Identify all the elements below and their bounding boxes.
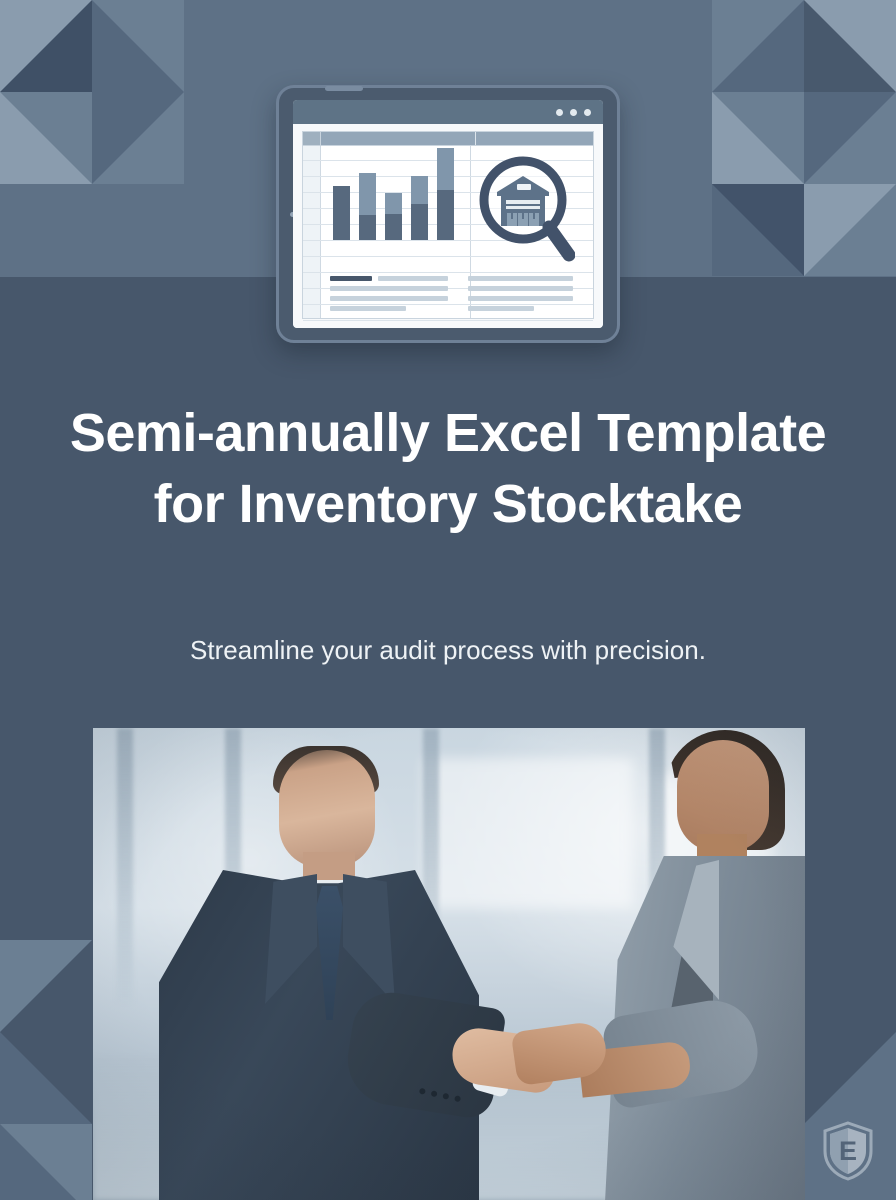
shield-logo-letter: E <box>839 1136 857 1166</box>
window-titlebar <box>293 100 603 124</box>
row-number-column <box>303 146 321 318</box>
page-subtitle: Streamline your audit process with preci… <box>48 633 848 667</box>
spreadsheet-grid <box>302 131 594 319</box>
page-title: Semi-annually Excel Template for Invento… <box>48 398 848 540</box>
chart-bar <box>359 173 376 240</box>
tablet-speaker <box>325 86 363 91</box>
photo-vignette <box>93 728 805 1200</box>
pattern-tile <box>0 1032 92 1124</box>
bar-chart <box>333 144 454 240</box>
pattern-tile <box>92 0 184 92</box>
pattern-tile <box>804 184 896 276</box>
text-rows-right <box>468 276 573 311</box>
tablet-screen <box>293 100 603 328</box>
pattern-tile <box>712 184 804 276</box>
chart-bar <box>437 148 454 240</box>
handshake <box>452 1018 598 1104</box>
header-cell <box>476 132 593 145</box>
poster-canvas: Semi-annually Excel Template for Invento… <box>0 0 896 1200</box>
window-dot-icon <box>556 109 563 116</box>
window-dot-icon <box>584 109 591 116</box>
pattern-tile <box>0 940 92 1032</box>
text-rows-left <box>330 276 448 311</box>
tablet-device <box>276 85 620 343</box>
pattern-tile <box>804 92 896 184</box>
spreadsheet-area <box>293 124 603 328</box>
business-handshake-photo <box>93 728 805 1200</box>
pattern-tile <box>804 1032 896 1124</box>
window-dot-icon <box>570 109 577 116</box>
shield-logo: E <box>820 1120 876 1182</box>
chart-bar <box>385 193 402 240</box>
pattern-tile <box>0 1124 92 1200</box>
pattern-tile <box>712 92 804 184</box>
magnifier-icon <box>479 156 575 268</box>
chart-bar <box>333 186 350 240</box>
pattern-tile <box>804 0 896 92</box>
pattern-tile <box>0 0 92 92</box>
pattern-tile <box>712 0 804 92</box>
pattern-tile <box>92 92 184 184</box>
header-corner-cell <box>303 132 321 145</box>
pattern-tile <box>0 92 92 184</box>
chart-bar <box>411 176 428 240</box>
